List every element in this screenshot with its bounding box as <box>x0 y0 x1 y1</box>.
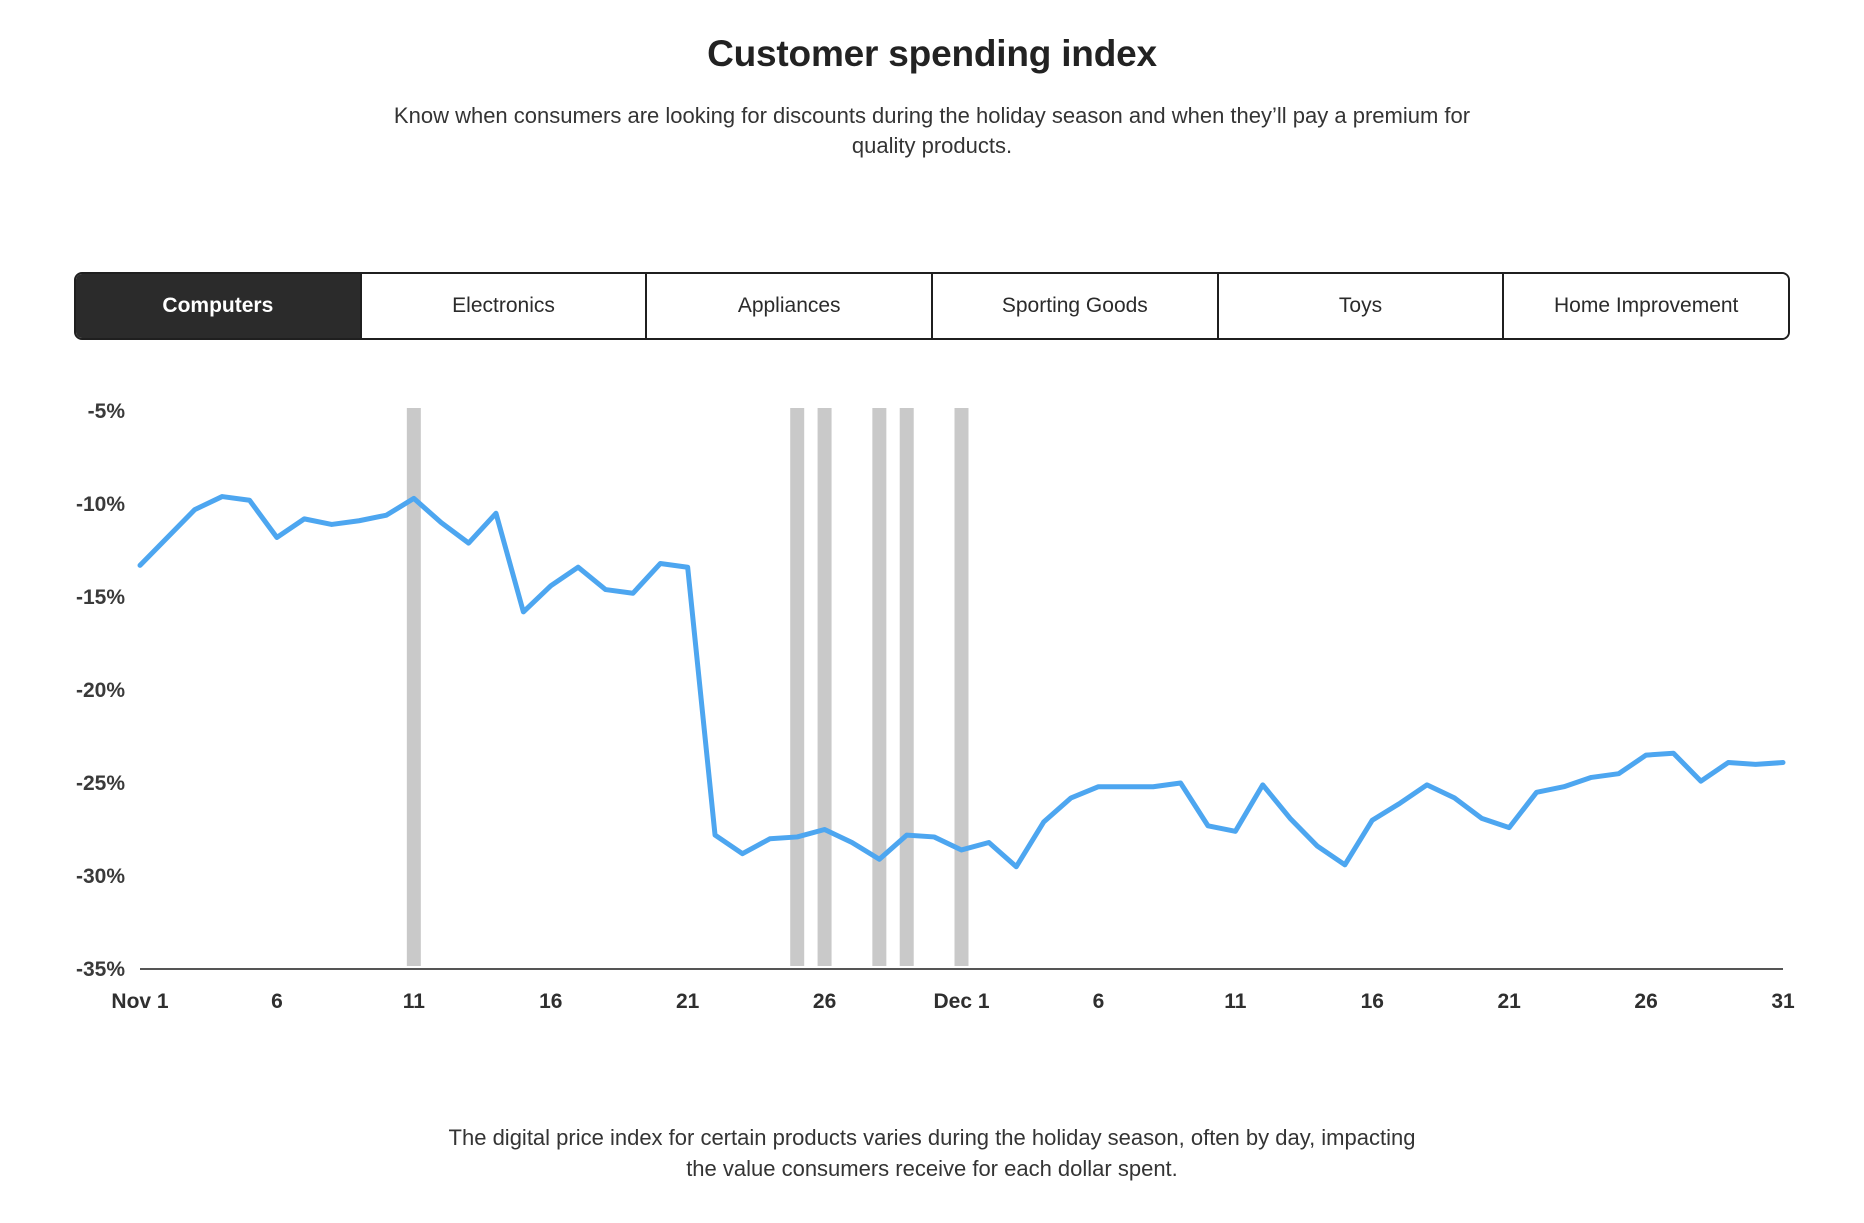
highlight-bar <box>900 408 914 966</box>
chart-header: Customer spending index Know when consum… <box>0 0 1864 161</box>
y-tick-label: -5% <box>88 400 126 423</box>
highlight-bar <box>818 408 832 966</box>
highlight-bars-layer <box>407 408 969 966</box>
y-tick-label: -35% <box>76 958 125 981</box>
tab-label: Appliances <box>738 294 841 318</box>
chart-canvas: -5%-10%-15%-20%-25%-30%-35% Nov 16111621… <box>0 380 1864 1040</box>
page-subtitle: Know when consumers are looking for disc… <box>377 101 1487 162</box>
tab-appliances[interactable]: Appliances <box>645 274 931 338</box>
y-tick-label: -10% <box>76 493 125 516</box>
highlight-bar <box>872 408 886 966</box>
x-tick-label: 16 <box>539 990 562 1013</box>
x-tick-label: 21 <box>676 990 700 1013</box>
tab-sporting-goods[interactable]: Sporting Goods <box>931 274 1217 338</box>
highlight-bar <box>407 408 421 966</box>
x-tick-label: 11 <box>403 990 426 1013</box>
tab-electronics[interactable]: Electronics <box>360 274 646 338</box>
x-tick-label: 6 <box>1093 990 1105 1013</box>
page-root: Customer spending index Know when consum… <box>0 0 1864 1223</box>
chart-footnote: The digital price index for certain prod… <box>432 1122 1432 1184</box>
x-tick-label: Nov 1 <box>111 990 169 1013</box>
tab-label: Electronics <box>452 294 555 318</box>
y-tick-label: -30% <box>76 865 125 888</box>
tab-label: Toys <box>1339 294 1382 318</box>
x-tick-label: Dec 1 <box>933 990 989 1013</box>
x-tick-label: 26 <box>1634 990 1657 1013</box>
x-tick-label: 11 <box>1224 990 1247 1013</box>
x-tick-label: 21 <box>1497 990 1521 1013</box>
y-axis-ticks: -5%-10%-15%-20%-25%-30%-35% <box>76 400 125 981</box>
tab-computers[interactable]: Computers <box>76 274 360 338</box>
y-tick-label: -20% <box>76 679 125 702</box>
tab-label: Sporting Goods <box>1002 294 1148 318</box>
y-tick-label: -25% <box>76 772 125 795</box>
x-axis-ticks: Nov 1611162126Dec 161116212631 <box>111 990 1795 1013</box>
highlight-bar <box>790 408 804 966</box>
spending-index-chart: -5%-10%-15%-20%-25%-30%-35% Nov 16111621… <box>0 380 1864 1040</box>
category-tab-bar[interactable]: ComputersElectronicsAppliancesSporting G… <box>74 272 1790 340</box>
x-tick-label: 6 <box>271 990 283 1013</box>
tab-toys[interactable]: Toys <box>1217 274 1503 338</box>
x-tick-label: 31 <box>1771 990 1795 1013</box>
x-tick-label: 16 <box>1361 990 1384 1013</box>
tab-label: Computers <box>162 294 273 318</box>
y-tick-label: -15% <box>76 586 125 609</box>
tab-label: Home Improvement <box>1554 294 1738 318</box>
highlight-bar <box>955 408 969 966</box>
page-title: Customer spending index <box>0 34 1864 75</box>
tab-home-improvement[interactable]: Home Improvement <box>1502 274 1788 338</box>
x-tick-label: 26 <box>813 990 836 1013</box>
